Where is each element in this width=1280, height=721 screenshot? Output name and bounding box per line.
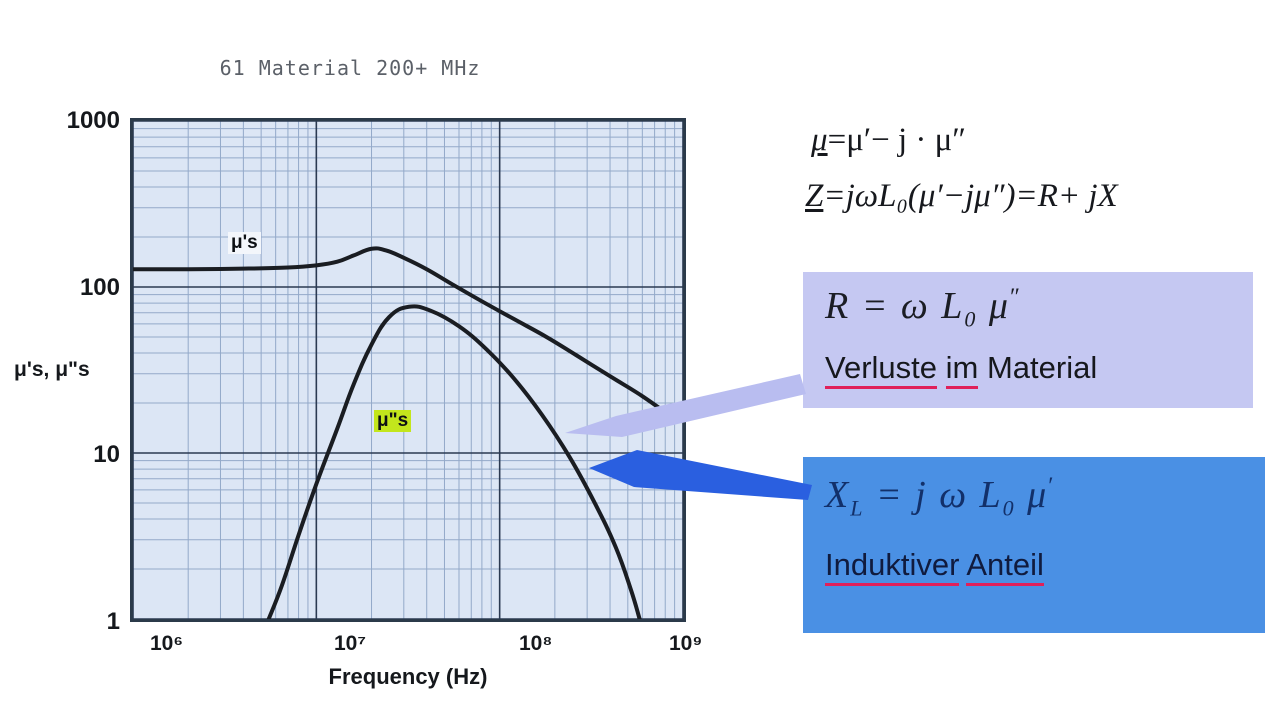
y-axis-label: μ's, μ"s <box>14 358 90 382</box>
plot-canvas <box>133 121 683 619</box>
eq-r-mu-sup: ″ <box>1010 284 1022 310</box>
y-tick-1000: 1000 <box>10 107 120 135</box>
y-tick-10: 10 <box>10 441 120 469</box>
y-tick-100: 100 <box>10 274 120 302</box>
callout-resistance: R = ω L0 μ″ Verluste im Material <box>803 272 1253 408</box>
caption-word-verluste: Verluste <box>825 350 937 389</box>
curve-label-mu-double-prime-text: μ"s <box>377 410 408 431</box>
eq-x-inductance: L <box>980 474 1003 516</box>
x-axis-label: Frequency (Hz) <box>130 664 686 690</box>
equation-impedance-rhs: =jωL₀(μ′−jμ″)=R+ jX <box>823 178 1117 214</box>
caption-word-anteil: Anteil <box>966 547 1044 586</box>
x-tick-1e8: 10⁸ <box>519 632 552 656</box>
eq-r-lhs: R <box>825 285 850 327</box>
curve-label-mu-prime-text: μ's <box>231 232 258 253</box>
caption-word-induktiver: Induktiver <box>825 547 959 586</box>
eq-x-lhs-sub: L <box>850 496 864 521</box>
callout-resistance-caption: Verluste im Material <box>825 350 1097 386</box>
curve-label-mu-prime: μ's <box>228 232 261 254</box>
eq-r-omega: ω <box>901 285 930 327</box>
eq-r-mu: μ <box>989 285 1010 327</box>
equation-mu-complex: μ=μ′− j · μ″ <box>811 122 966 159</box>
y-tick-1: 1 <box>10 608 120 636</box>
y-axis-label-text: μ's, μ"s <box>14 358 90 381</box>
chart-figure: 61 Material 200+ MHz 1000 100 10 1 μ's, … <box>0 0 760 721</box>
eq-x-mu-sup: ′ <box>1048 473 1055 499</box>
caption-word-material: Material <box>987 350 1097 385</box>
callout-reactance-caption: Induktiver Anteil <box>825 547 1044 583</box>
eq-r-inductance-sub: 0 <box>964 307 977 332</box>
caption-word-im: im <box>946 350 979 389</box>
eq-x-omega: ω <box>939 474 968 516</box>
callout-resistance-equation: R = ω L0 μ″ <box>825 284 1022 333</box>
eq-x-equals: = <box>876 474 904 516</box>
plot-area <box>130 118 686 622</box>
equation-mu-complex-rhs: =μ′− j · μ″ <box>828 122 966 158</box>
eq-x-lhs: X <box>825 474 850 516</box>
eq-r-inductance: L <box>941 285 964 327</box>
callout-reactance-equation: XL = j ω L0 μ′ <box>825 473 1056 522</box>
equation-impedance-lhs: Z <box>805 178 823 214</box>
equation-panel: μ=μ′− j · μ″ Z=jωL₀(μ′−jμ″)=R+ jX R = ω … <box>795 0 1280 721</box>
equation-mu-complex-lhs: μ <box>811 122 828 158</box>
x-tick-1e6: 10⁶ <box>150 632 183 656</box>
x-tick-1e7: 10⁷ <box>334 632 366 656</box>
chart-title: 61 Material 200+ MHz <box>0 56 700 80</box>
eq-x-mu: μ <box>1027 474 1048 516</box>
eq-x-inductance-sub: 0 <box>1003 496 1016 521</box>
curve-label-mu-double-prime: μ"s <box>374 410 411 432</box>
equation-impedance: Z=jωL₀(μ′−jμ″)=R+ jX <box>805 178 1118 215</box>
callout-reactance: XL = j ω L0 μ′ Induktiver Anteil <box>803 457 1265 633</box>
eq-r-equals: = <box>862 285 890 327</box>
x-tick-1e9: 10⁹ <box>669 632 702 656</box>
eq-x-j: j <box>915 474 928 516</box>
